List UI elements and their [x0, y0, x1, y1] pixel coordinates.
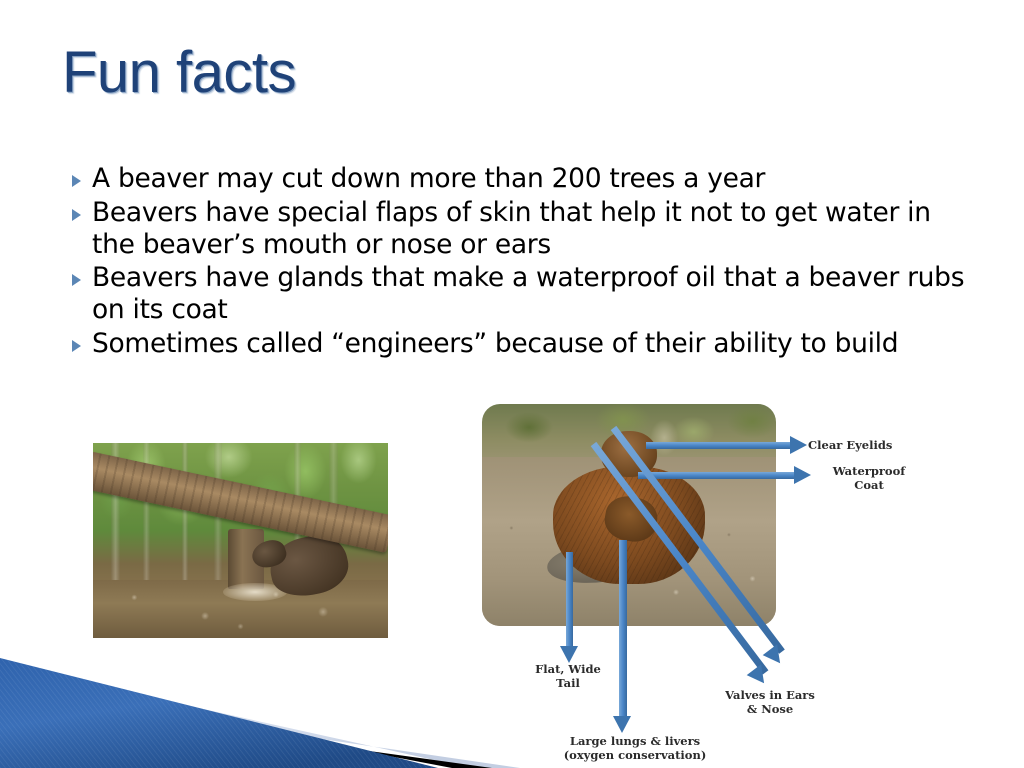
- diagram-label-clear-eyelids: Clear Eyelids: [808, 438, 938, 452]
- arrow-to-waterproof-coat-head: [794, 466, 811, 484]
- arrow-to-flat-wide-tail-head: [560, 646, 578, 663]
- beaver-adaptations-diagram: Clear Eyelids Waterproof Coat Flat, Wide…: [478, 400, 988, 768]
- triangle-bullet-icon: [64, 163, 92, 187]
- background-tree-trunk: [182, 443, 188, 587]
- arrow-to-valves-ears-nose-b-head: [747, 664, 772, 688]
- diagram-label-flat-wide-tail: Flat, Wide Tail: [518, 662, 618, 691]
- list-item: Sometimes called “engineers” because of …: [64, 328, 974, 360]
- list-item-text: Sometimes called “engineers” because of …: [92, 328, 974, 360]
- list-item: Beavers have special flaps of skin that …: [64, 197, 974, 261]
- diagram-label-waterproof-coat: Waterproof Coat: [814, 464, 924, 493]
- blue-diagonal-wedge: [0, 658, 438, 768]
- fun-facts-bullet-list: A beaver may cut down more than 200 tree…: [64, 163, 974, 362]
- triangle-bullet-icon: [64, 328, 92, 352]
- arrow-to-waterproof-coat: [638, 472, 798, 479]
- diagram-label-large-lungs-and-livers: Large lungs & livers (oxygen conservatio…: [540, 734, 730, 763]
- list-item: Beavers have glands that make a waterpro…: [64, 262, 974, 326]
- beaver-grooming-photo: [482, 404, 776, 626]
- arrow-to-large-lungs-livers: [619, 540, 627, 722]
- diagram-photo-frame: [482, 404, 776, 626]
- triangle-bullet-icon: [64, 262, 92, 286]
- beaver-gnawing-felled-tree-photo: [93, 443, 388, 638]
- arrow-to-large-lungs-livers-head: [613, 716, 631, 733]
- list-item-text: Beavers have special flaps of skin that …: [92, 197, 974, 261]
- triangle-bullet-icon: [64, 197, 92, 221]
- list-item-text: A beaver may cut down more than 200 tree…: [92, 163, 974, 195]
- list-item: A beaver may cut down more than 200 tree…: [64, 163, 974, 195]
- arrow-to-clear-eyelids: [646, 442, 794, 449]
- arrow-to-flat-wide-tail: [566, 552, 573, 650]
- black-diagonal-band: [0, 682, 492, 768]
- light-diagonal-band: [0, 664, 520, 768]
- page-title: Fun facts: [62, 44, 296, 102]
- arrow-to-clear-eyelids-head: [790, 436, 807, 454]
- diagram-label-valves-in-ears-and-nose: Valves in Ears & Nose: [700, 688, 840, 717]
- corner-diagonal-bands: [0, 638, 520, 768]
- blue-wedge-hatch-texture: [0, 658, 438, 768]
- list-item-text: Beavers have glands that make a waterpro…: [92, 262, 974, 326]
